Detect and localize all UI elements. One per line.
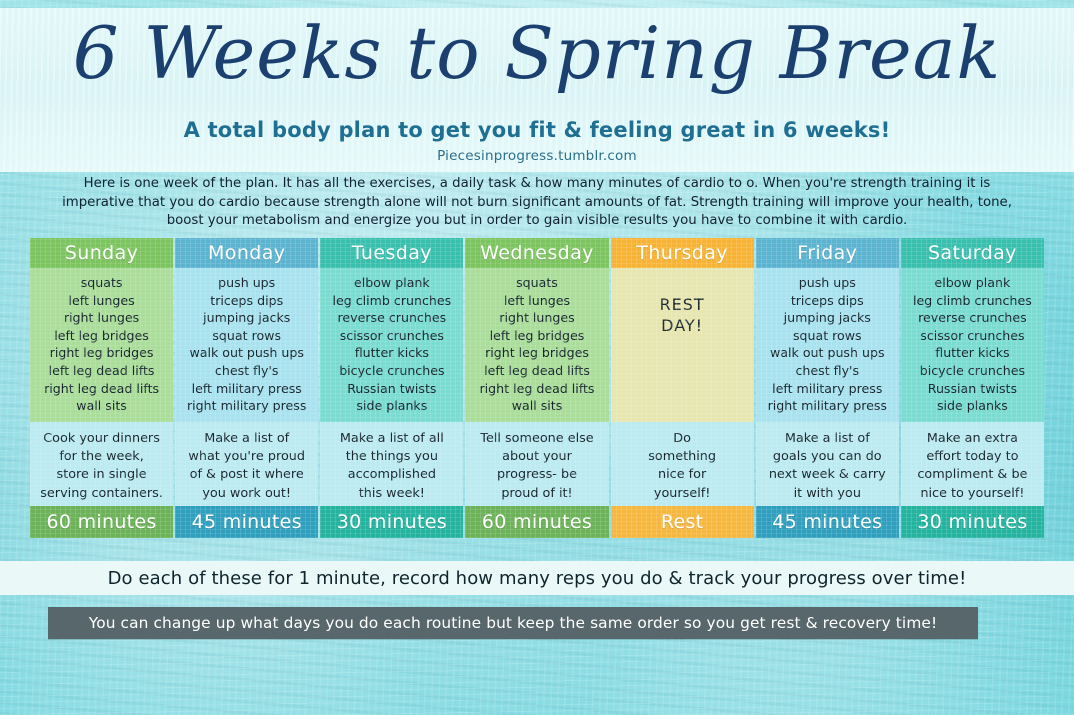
exercise-item: right leg dead lifts: [30, 380, 173, 398]
daily-task-saturday: Make an extraeffort today tocompliment &…: [901, 422, 1044, 506]
task-line: this week!: [325, 485, 458, 503]
exercise-item: left lunges: [465, 292, 608, 310]
exercise-list-tuesday: elbow plankleg climb crunchesreverse cru…: [320, 268, 463, 422]
source-site: Piecesinprogress.tumblr.com: [0, 148, 1074, 164]
task-line: store in single: [35, 466, 168, 484]
exercise-item: scissor crunches: [320, 327, 463, 345]
task-line: for the week,: [35, 448, 168, 466]
task-line: you work out!: [180, 485, 313, 503]
task-line: proud of it!: [470, 485, 603, 503]
exercise-item: squats: [30, 274, 173, 292]
cardio-minutes-thursday: Rest: [611, 506, 754, 538]
cardio-minutes-tuesday: 30 minutes: [320, 506, 463, 538]
day-column-saturday: Saturdayelbow plankleg climb crunchesrev…: [901, 238, 1044, 538]
day-column-monday: Mondaypush upstriceps dipsjumping jackss…: [175, 238, 318, 538]
exercise-item: squat rows: [175, 327, 318, 345]
day-header-friday: Friday: [756, 238, 899, 268]
rest-day-label: DAY!: [611, 315, 754, 336]
exercise-item: bicycle crunches: [901, 362, 1044, 380]
exercise-item: squats: [465, 274, 608, 292]
cardio-minutes-monday: 45 minutes: [175, 506, 318, 538]
task-line: about your: [470, 448, 603, 466]
exercise-item: side planks: [320, 397, 463, 415]
exercise-item: walk out push ups: [175, 344, 318, 362]
exercise-list-wednesday: squatsleft lungesright lungesleft leg br…: [465, 268, 608, 422]
daily-task-sunday: Cook your dinnersfor the week,store in s…: [30, 422, 173, 506]
exercise-item: push ups: [175, 274, 318, 292]
day-header-thursday: Thursday: [611, 238, 754, 268]
exercise-item: left leg bridges: [30, 327, 173, 345]
task-line: serving containers.: [35, 485, 168, 503]
day-column-friday: Fridaypush upstriceps dipsjumping jackss…: [756, 238, 899, 538]
task-line: accomplished: [325, 466, 458, 484]
day-header-monday: Monday: [175, 238, 318, 268]
exercise-item: left leg bridges: [465, 327, 608, 345]
exercise-item: elbow plank: [320, 274, 463, 292]
exercise-item: right lunges: [30, 309, 173, 327]
weekly-plan-table: Sundaysquatsleft lungesright lungesleft …: [30, 238, 1044, 538]
exercise-item: push ups: [756, 274, 899, 292]
exercise-item: leg climb crunches: [320, 292, 463, 310]
daily-task-wednesday: Tell someone elseabout yourprogress- bep…: [465, 422, 608, 506]
exercise-item: elbow plank: [901, 274, 1044, 292]
exercise-item: right military press: [175, 397, 318, 415]
exercise-item: right military press: [756, 397, 899, 415]
task-line: Make an extra: [906, 430, 1039, 448]
exercise-item: left leg dead lifts: [465, 362, 608, 380]
exercise-item: chest fly's: [756, 362, 899, 380]
cardio-minutes-wednesday: 60 minutes: [465, 506, 608, 538]
daily-task-monday: Make a list ofwhat you're proudof & post…: [175, 422, 318, 506]
exercise-list-saturday: elbow plankleg climb crunchesreverse cru…: [901, 268, 1044, 422]
exercise-item: triceps dips: [175, 292, 318, 310]
task-line: next week & carry: [761, 466, 894, 484]
day-column-tuesday: Tuesdayelbow plankleg climb crunchesreve…: [320, 238, 463, 538]
exercise-item: Russian twists: [901, 380, 1044, 398]
task-line: it with you: [761, 485, 894, 503]
task-line: compliment & be: [906, 466, 1039, 484]
day-column-sunday: Sundaysquatsleft lungesright lungesleft …: [30, 238, 173, 538]
task-line: the things you: [325, 448, 458, 466]
exercise-item: Russian twists: [320, 380, 463, 398]
task-line: effort today to: [906, 448, 1039, 466]
exercise-item: wall sits: [30, 397, 173, 415]
page-title: 6 Weeks to Spring Break: [0, 14, 1074, 92]
day-column-thursday: ThursdayRESTDAY!Dosomethingnice foryours…: [611, 238, 754, 538]
exercise-item: leg climb crunches: [901, 292, 1044, 310]
exercise-item: bicycle crunches: [320, 362, 463, 380]
task-line: what you're proud: [180, 448, 313, 466]
task-line: nice for: [616, 466, 749, 484]
exercise-item: left lunges: [30, 292, 173, 310]
task-line: Make a list of: [761, 430, 894, 448]
exercise-item: walk out push ups: [756, 344, 899, 362]
cardio-minutes-friday: 45 minutes: [756, 506, 899, 538]
cardio-minutes-saturday: 30 minutes: [901, 506, 1044, 538]
exercise-item: reverse crunches: [901, 309, 1044, 327]
exercise-item: jumping jacks: [756, 309, 899, 327]
task-line: something: [616, 448, 749, 466]
exercise-item: chest fly's: [175, 362, 318, 380]
note-reps: Do each of these for 1 minute, record ho…: [0, 561, 1074, 595]
exercise-list-monday: push upstriceps dipsjumping jackssquat r…: [175, 268, 318, 422]
intro-paragraph: Here is one week of the plan. It has all…: [47, 175, 1027, 231]
task-line: Do: [616, 430, 749, 448]
exercise-item: side planks: [901, 397, 1044, 415]
day-header-saturday: Saturday: [901, 238, 1044, 268]
day-header-tuesday: Tuesday: [320, 238, 463, 268]
exercise-item: flutter kicks: [320, 344, 463, 362]
exercise-list-friday: push upstriceps dipsjumping jackssquat r…: [756, 268, 899, 422]
exercise-item: right lunges: [465, 309, 608, 327]
task-line: of & post it where: [180, 466, 313, 484]
day-header-wednesday: Wednesday: [465, 238, 608, 268]
subtitle: A total body plan to get you fit & feeli…: [0, 118, 1074, 142]
exercise-item: right leg bridges: [465, 344, 608, 362]
daily-task-tuesday: Make a list of allthe things youaccompli…: [320, 422, 463, 506]
task-line: goals you can do: [761, 448, 894, 466]
day-header-sunday: Sunday: [30, 238, 173, 268]
task-line: Tell someone else: [470, 430, 603, 448]
exercise-item: left leg dead lifts: [30, 362, 173, 380]
task-line: nice to yourself!: [906, 485, 1039, 503]
task-line: progress- be: [470, 466, 603, 484]
exercise-item: left military press: [175, 380, 318, 398]
exercise-item: left military press: [756, 380, 899, 398]
note-schedule: You can change up what days you do each …: [48, 607, 978, 639]
exercise-item: scissor crunches: [901, 327, 1044, 345]
exercise-list-sunday: squatsleft lungesright lungesleft leg br…: [30, 268, 173, 422]
task-line: Make a list of: [180, 430, 313, 448]
exercise-list-thursday: RESTDAY!: [611, 268, 754, 422]
exercise-item: wall sits: [465, 397, 608, 415]
poster: 6 Weeks to Spring Break A total body pla…: [0, 0, 1074, 715]
day-column-wednesday: Wednesdaysquatsleft lungesright lungesle…: [465, 238, 608, 538]
exercise-item: squat rows: [756, 327, 899, 345]
exercise-item: right leg dead lifts: [465, 380, 608, 398]
exercise-item: flutter kicks: [901, 344, 1044, 362]
exercise-item: reverse crunches: [320, 309, 463, 327]
daily-task-thursday: Dosomethingnice foryourself!: [611, 422, 754, 506]
daily-task-friday: Make a list ofgoals you can donext week …: [756, 422, 899, 506]
task-line: Cook your dinners: [35, 430, 168, 448]
task-line: Make a list of all: [325, 430, 458, 448]
cardio-minutes-sunday: 60 minutes: [30, 506, 173, 538]
exercise-item: triceps dips: [756, 292, 899, 310]
exercise-item: jumping jacks: [175, 309, 318, 327]
task-line: yourself!: [616, 485, 749, 503]
exercise-item: right leg bridges: [30, 344, 173, 362]
rest-day-label: REST: [611, 274, 754, 315]
